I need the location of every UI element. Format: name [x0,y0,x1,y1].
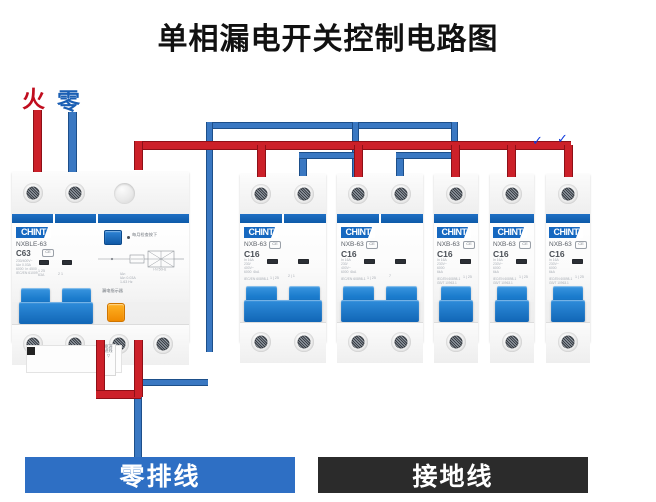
breaker-2p-1-brand-logo: CHINT [244,227,278,238]
neutral-distribution-bus [206,122,356,129]
jumper-mark-2: ✓ [557,133,568,146]
main-rcbo-lever-tie-bar[interactable] [19,302,93,324]
main-rcbo-pole2-micro: 2 1 [58,272,63,276]
breaker-1p-2-brand-logo: CHINT [493,227,527,238]
terminal-screw[interactable] [251,184,271,204]
breaker-2p-1-standard-microtext: IEC/EN 60898-1 [244,278,269,282]
breaker-1p-3-model-text: NXB-63 [549,241,572,248]
main-rcbo-rating-micro: 1 2563A [38,269,45,277]
terminal-screw[interactable] [348,332,368,352]
breaker-1p-1-blue-stripe [434,214,478,223]
live-drop-breaker-2p-1 [257,145,266,177]
neutral-distribution-bus-right [352,122,456,129]
main-rcbo-device[interactable]: CHINT NXBLE-63 C63 CE 230/400V~IΔn 0.03A… [12,172,189,342]
breaker-1p-3-curve-microtext: 1 | 25 [575,275,584,279]
breaker-2p-1-spec-microtext: In 16A230/400V~6000 6kA [244,259,259,275]
breaker-1p-3-standard-microtext: IEC/EN 60898-1GB/T 10963.1 [549,278,572,285]
terminal-screw[interactable] [294,184,314,204]
live-drop-breaker-1p-3 [564,145,573,177]
ground-busbar-label: 接地线 [412,457,493,493]
neutral-busbar-label: 零排线 [119,457,200,493]
breaker-2p-2-model-text: NXB-63 [341,241,364,248]
neutral-drop-left-riser [206,122,213,352]
breaker-1p-2-curve-microtext: 1 | 25 [519,275,528,279]
rcd-reset-button[interactable] [107,303,125,322]
main-rcbo-status-window-1 [39,260,49,265]
breaker-1p-3-top-terminals [546,174,590,215]
main-rcbo-blue-stripe-1 [12,214,53,223]
rcd-spec-microtext: IΔnIΔn 0.03A1-63 Hz [120,272,136,284]
terminal-screw[interactable] [502,184,522,204]
blank-terminal-hole [114,183,135,204]
breaker-1p-2-blue-stripe [490,214,534,223]
breaker-2p-1-top-cell-1 [240,174,284,214]
breaker-1p-2-status-window [516,259,527,264]
breaker-1p-3-ce-mark: CE [575,241,587,249]
neutral-busbar[interactable]: 零排线 [25,457,295,493]
breaker-2p-1-curve-microtext: 1 | 25 [270,276,279,280]
terminal-screw[interactable] [502,332,522,352]
breaker-1p-2-top-terminals [490,174,534,215]
breaker-1p-1-brand-logo: CHINT [437,227,471,238]
breaker-1p-1-bottom-terminals [434,322,478,363]
breaker-2p-1-blue-stripe-2 [284,214,326,223]
breaker-1p-2-device[interactable]: CHINT NXB-63 CE C16 In 16A230V~60006kA I… [490,174,534,342]
breaker-2p-2-top-cell-1 [337,174,381,214]
breaker-2p-2-bottom-cell-1 [337,323,381,363]
breaker-2p-1-top-terminals [240,174,326,215]
breaker-1p-3-spec-microtext: In 16A230V~60006kA [549,259,559,275]
live-main-output-right-riser [134,340,143,397]
breaker-1p-2-model-text: NXB-63 [493,241,516,248]
page-title: 单相漏电开关控制电路图 [0,14,656,58]
breaker-2p-2-blue-stripe-2 [381,214,423,223]
breaker-2p-2-lever-tie-bar[interactable] [341,300,419,322]
rcd-test-button[interactable] [104,230,122,245]
main-rcbo-model-text: NXBLE-63 [16,241,47,248]
neutral-tail-link-2p-2 [396,152,454,159]
breaker-2p-2-bottom-terminals [337,322,423,363]
breaker-2p-2-curve-microtext: 1 | 25 [367,276,376,280]
main-rcbo-status-window-2 [62,260,72,265]
main-rcbo-bottom-cell-4 [142,325,189,365]
breaker-2p-2-brand-logo: CHINT [341,227,375,238]
terminal-screw[interactable] [294,332,314,352]
neutral-source-label: 零 [57,82,80,116]
main-rcbo-brand-logo: CHINT [16,227,51,238]
breaker-2p-2-ce-mark: CE [366,241,378,249]
terminal-screw[interactable] [558,184,578,204]
breaker-1p-2-standard-microtext: IEC/EN 60898-1GB/T 10963.1 [493,278,516,285]
breaker-2p-2-bottom-cell-2 [380,323,423,363]
incoming-live-wire [33,110,42,172]
breaker-1p-2-spec-microtext: In 16A230V~60006kA [493,259,503,275]
terminal-screw[interactable] [391,332,411,352]
breaker-1p-2-bottom-terminals [490,322,534,363]
terminal-screw[interactable] [65,183,85,203]
breaker-2p-1-device[interactable]: CHINT NXB-63 CE C16 In 16A230/400V~6000 … [240,174,326,342]
live-source-label: 火 [22,80,45,114]
main-rcbo-blue-stripe-3 [98,214,189,223]
breaker-2p-1-top-cell-2 [283,174,326,214]
terminal-screw[interactable] [251,332,271,352]
breaker-1p-1-model-text: NXB-63 [437,241,460,248]
breaker-2p-2-spec-microtext: In 16A230/400V~6000 6kA [341,259,356,275]
breaker-2p-1-status-window-2 [298,259,309,264]
terminal-screw[interactable] [348,184,368,204]
breaker-1p-1-ce-mark: CE [463,241,475,249]
breaker-2p-1-ce-mark: CE [269,241,281,249]
rcd-internal-schematic: I-N 50Hz [98,247,186,271]
main-rcbo-top-terminals [12,172,189,215]
main-rcbo-black-mark [27,347,35,355]
live-distribution-bus [134,141,571,150]
terminal-screw[interactable] [558,332,578,352]
breaker-2p-1-bottom-cell-1 [240,323,284,363]
main-rcbo-rcd-module-top [96,172,189,214]
breaker-1p-3-lever-base[interactable] [551,300,585,322]
rcd-note-bullet [127,236,130,239]
svg-text:I-N 50Hz: I-N 50Hz [153,267,167,271]
terminal-screw[interactable] [23,183,43,203]
breaker-1p-1-lever-base[interactable] [439,300,473,322]
incoming-neutral-wire [68,112,77,172]
breaker-1p-3-device[interactable]: CHINT NXB-63 CE C16 In 16A230V~60006kA I… [546,174,590,342]
breaker-2p-2-top-cell-2 [380,174,423,214]
circuit-diagram-canvas: 单相漏电开关控制电路图 火 零 [0,0,656,502]
main-rcbo-pole-cell-2 [54,172,97,214]
terminal-screw[interactable] [446,184,466,204]
terminal-screw[interactable] [446,332,466,352]
live-main-output-riser [134,141,143,170]
breaker-2p-1-bottom-cell-2 [283,323,326,363]
breaker-2p-1-bottom-terminals [240,322,326,363]
breaker-2p-2-top-terminals [337,174,423,215]
breaker-1p-1-standard-microtext: IEC/EN 60898-1GB/T 10963.1 [437,278,460,285]
breaker-1p-3-brand-logo: CHINT [549,227,583,238]
main-rcbo-blue-stripe-2 [55,214,96,223]
breaker-2p-2-blue-stripe-1 [337,214,379,223]
jumper-mark-1: ✓ [532,135,543,148]
breaker-1p-1-top-terminals [434,174,478,215]
breaker-2p-1-model-text: NXB-63 [244,241,267,248]
main-rcbo-pole-cell-1 [12,172,55,214]
breaker-1p-2-ce-mark: CE [519,241,531,249]
breaker-2p-1-lever-tie-bar[interactable] [244,300,322,322]
live-drop-breaker-1p-1 [451,145,460,177]
breaker-2p-2-pole2-micro: 7 [389,274,391,278]
neutral-main-branch-h [134,379,208,386]
breaker-2p-1-status-window-1 [267,259,278,264]
breaker-1p-3-status-window [572,259,583,264]
breaker-1p-3-blue-stripe [546,214,590,223]
main-rcbo-rating-text: C63 [16,249,31,258]
breaker-1p-3-bottom-terminals [546,322,590,363]
main-rcbo-spec-microtext: 230/400V~IΔn 0.03A6000 In 4500IEC/EN 610… [16,260,38,276]
breaker-1p-1-status-window [460,259,471,264]
ground-busbar[interactable]: 接地线 [318,457,588,493]
breaker-2p-2-standard-microtext: IEC/EN 60898-1 [341,278,366,282]
breaker-2p-2-device[interactable]: CHINT NXB-63 CE C16 In 16A230/400V~6000 … [337,174,423,342]
breaker-2p-1-blue-stripe-1 [240,214,282,223]
rcd-reset-note: 漏电指示器 [102,288,123,294]
live-main-output-wire [96,340,105,396]
breaker-2p-2-status-window-2 [395,259,406,264]
rcd-test-note: 每月检查按下 [132,232,157,238]
breaker-2p-1-pole2-micro: 2 | 1 [288,274,295,278]
neutral-tail-link-2p-1 [299,152,355,159]
live-drop-breaker-2p-2 [354,145,363,177]
main-rcbo-ce-mark: CE [42,249,54,257]
breaker-1p-1-curve-microtext: 1 | 25 [463,275,472,279]
terminal-screw[interactable] [391,184,411,204]
breaker-1p-2-lever-base[interactable] [495,300,529,322]
live-drop-breaker-1p-2 [507,145,516,177]
breaker-2p-2-status-window-1 [364,259,375,264]
breaker-1p-1-spec-microtext: In 16A230V~60006kA [437,259,447,275]
terminal-screw[interactable] [153,334,173,354]
breaker-1p-1-device[interactable]: CHINT NXB-63 CE C16 In 16A230V~60006kA I… [434,174,478,342]
